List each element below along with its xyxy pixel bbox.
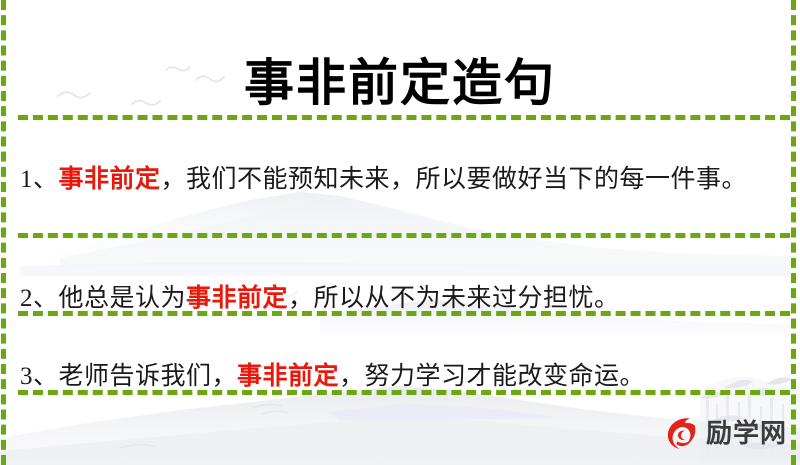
- sentence-3-after: ，努力学习才能改变命运。: [339, 363, 645, 390]
- sentence-2-index: 2、: [20, 285, 59, 312]
- sentence-1-after: ，我们不能预知未来，所以要做好当下的每一件事。: [161, 166, 748, 193]
- sentence-item-2: 2、他总是认为事非前定，所以从不为未来过分担忧。: [20, 278, 782, 320]
- site-logo-text: 励学网: [706, 414, 787, 452]
- sentence-item-1: 1、事非前定，我们不能预知未来，所以要做好当下的每一件事。: [20, 159, 782, 201]
- flame-swirl-logo-icon: [662, 414, 700, 452]
- site-logo[interactable]: 励学网: [662, 414, 787, 452]
- sentence-2-after: ，所以从不为未来过分担忧。: [288, 285, 620, 312]
- sentence-1-keyword: 事非前定: [59, 166, 161, 193]
- sentence-3-keyword: 事非前定: [237, 363, 339, 390]
- sentence-1-index: 1、: [20, 166, 59, 193]
- sentence-2-before: 他总是认为: [59, 285, 187, 312]
- sentence-3-index: 3、: [20, 363, 59, 390]
- sentence-3-before: 老师告诉我们，: [59, 363, 238, 390]
- sentence-item-3: 3、老师告诉我们，事非前定，努力学习才能改变命运。: [20, 356, 782, 398]
- sentence-list: 1、事非前定，我们不能预知未来，所以要做好当下的每一件事。 2、他总是认为事非前…: [0, 0, 800, 465]
- worksheet-page: 事非前定造句 1、事非前定，我们不能预知未来，所以要做好当下的每一件事。 2、他…: [0, 0, 800, 465]
- sentence-2-keyword: 事非前定: [186, 285, 288, 312]
